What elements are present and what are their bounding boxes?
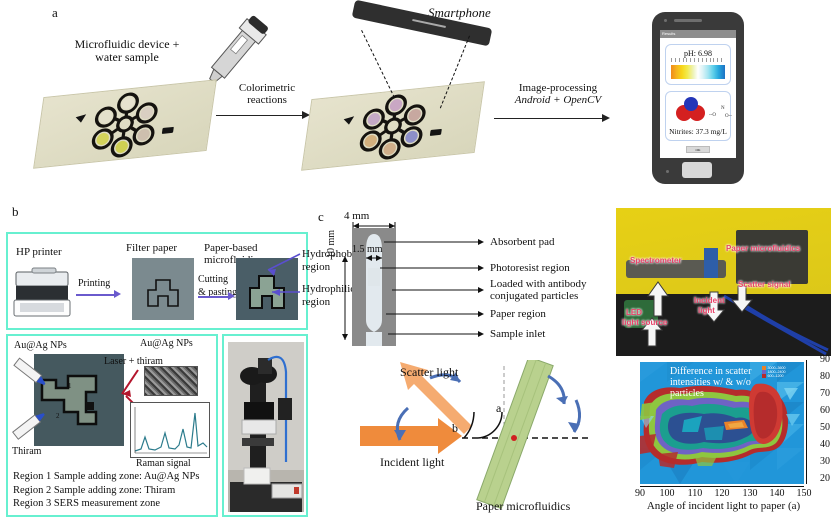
scatter-geometry-diagram: a b Scatter light Incident light Paper m… xyxy=(352,360,602,520)
raman-signal-label: Raman signal xyxy=(136,458,191,469)
dim-width-label: 4 mm xyxy=(344,210,369,222)
y-tick: 90 xyxy=(820,354,830,365)
paper-microfluidics-label: Paper microfluidics xyxy=(476,500,570,513)
phone-sensor-dot xyxy=(666,170,669,173)
colorimetric-arrow-label: Colorimetric reactions xyxy=(214,82,320,107)
chart-legend: 3000–3600 2400–3000 1800–2400 1200–1800 … xyxy=(762,366,804,378)
cutting-arrow-head xyxy=(228,292,235,300)
panel-b-sers-box: Au@Ag NPs Au@Ag NPs 1 2 Thiram Laser + t… xyxy=(6,334,218,517)
heatmap-plot-area: Difference in scatter intensities w/ & w… xyxy=(640,362,804,484)
printing-step-label: Printing xyxy=(78,278,110,289)
pipette-icon-top xyxy=(10,356,50,392)
y-tick: 40 xyxy=(820,439,830,450)
dim-height-label: 10 mm xyxy=(326,230,337,258)
flower-channel-pattern-2 xyxy=(308,90,478,162)
callout-photoresist-region: Photoresist region xyxy=(490,262,570,274)
fov-dash-left xyxy=(361,30,395,98)
chart-x-axis-label: Angle of incident light to paper (a) xyxy=(616,500,831,512)
printer-icon xyxy=(12,262,74,324)
setup-label-light: light xyxy=(698,306,715,315)
incident-light-label: Incident light xyxy=(380,456,444,469)
panel-b-microscope-box xyxy=(222,334,308,517)
x-tick: 100 xyxy=(660,488,675,499)
raman-spectrum-inset xyxy=(130,402,210,458)
hydrophobic-arrow-icon xyxy=(250,248,308,308)
legend-swatch xyxy=(762,374,766,378)
x-tick: 110 xyxy=(688,488,703,499)
panel-b-letter: b xyxy=(12,205,19,220)
ok-button[interactable]: OK xyxy=(686,146,710,153)
microscope-setup-photo xyxy=(228,342,304,512)
arrow-2-head xyxy=(602,114,610,122)
panel-a: Microfluidic device + water sample xyxy=(0,0,834,200)
setup-label-spectrometer: Spectrometer xyxy=(630,256,682,265)
filter-paper-photo xyxy=(132,258,194,320)
svg-text:1: 1 xyxy=(68,382,72,390)
x-tick: 90 xyxy=(635,488,645,499)
x-tick: 120 xyxy=(715,488,730,499)
setup-label-paper-microfluidics: Paper microfluidics xyxy=(726,244,800,253)
microscope-illustration xyxy=(228,342,304,512)
svg-text:b: b xyxy=(452,421,458,435)
chart-title: Difference in scatter intensities w/ & w… xyxy=(670,366,766,399)
flower-channel-pattern-1 xyxy=(40,88,210,160)
caption-region-2: Region 2 Sample adding zone: Thiram xyxy=(13,484,199,498)
nitrite-result-card: --O N O-- Nitrites: 37.3 mg/L xyxy=(665,91,731,141)
setup-label-led-source: light source xyxy=(622,318,667,327)
x-axis-line xyxy=(640,486,804,487)
callout-sample-inlet: Sample inlet xyxy=(490,328,545,340)
arrow-2-line xyxy=(494,118,604,119)
y-tick: 20 xyxy=(820,473,830,484)
sers-region-captions: Region 1 Sample adding zone: Au@Ag NPs R… xyxy=(13,470,199,511)
dim-height-arrow xyxy=(340,252,350,344)
y-tick: 50 xyxy=(820,422,830,433)
cutting-arrow-line xyxy=(198,296,230,298)
smartphone-speaker-strip xyxy=(412,19,446,28)
y-tick: 30 xyxy=(820,456,830,467)
svg-text:N: N xyxy=(721,106,725,111)
legend-label: 600–1200 xyxy=(768,374,784,378)
phone-front-camera xyxy=(664,19,667,22)
setup-label-incident: Incident xyxy=(694,296,725,305)
y-axis-line xyxy=(806,360,807,484)
svg-text:2: 2 xyxy=(56,412,60,420)
thiram-label: Thiram xyxy=(12,446,41,457)
ph-result-card: pH: 6.98 xyxy=(665,44,731,85)
image-processing-arrow-label: Image-processing Android + OpenCV xyxy=(492,82,624,107)
legend-item: 600–1200 xyxy=(762,374,804,378)
filter-paper-label: Filter paper xyxy=(126,242,177,254)
printer-label: HP printer xyxy=(16,246,62,258)
callout-paper-region: Paper region xyxy=(490,308,546,320)
svg-text:--O: --O xyxy=(709,113,716,118)
phone-earpiece xyxy=(674,19,702,22)
smartphone-result-screen[interactable]: Results pH: 6.98 --O N O-- xyxy=(652,12,744,184)
scatter-intensity-heatmap-chart: Difference in scatter intensities w/ & w… xyxy=(616,360,831,520)
y-tick: 60 xyxy=(820,405,830,416)
y-tick: 70 xyxy=(820,388,830,399)
printing-arrow-line xyxy=(76,294,116,296)
pipette-icon-bottom xyxy=(10,406,50,444)
au-ag-np-label-right: Au@Ag NPs xyxy=(140,338,193,349)
panel-c-letter: c xyxy=(318,210,324,225)
phone-home-button[interactable] xyxy=(682,162,712,178)
caption-region-3: Region 3 SERS measurement zone xyxy=(13,497,199,511)
callout-absorbent-pad: Absorbent pad xyxy=(490,236,554,248)
ph-color-scale xyxy=(671,65,725,79)
y-tick: 80 xyxy=(820,371,830,382)
printed-pattern-outline xyxy=(132,258,194,320)
callout-antibody-particles: Loaded with antibody conjugated particle… xyxy=(490,278,587,303)
chart-x-axis: 90 100 110 120 130 140 150 xyxy=(640,486,804,500)
ph-scale-ticks xyxy=(671,58,725,62)
setup-label-scatter-signal: Scatter signal xyxy=(738,280,790,289)
au-ag-np-label-left: Au@Ag NPs xyxy=(14,340,67,351)
svg-text:O--: O-- xyxy=(725,114,732,119)
phone-screen[interactable]: Results pH: 6.98 --O N O-- xyxy=(660,30,736,158)
x-tick: 150 xyxy=(797,488,812,499)
scatter-light-label: Scatter light xyxy=(400,366,458,379)
raman-spectrum-plot xyxy=(131,403,209,457)
setup-label-led: LED xyxy=(626,308,642,317)
scatter-geometry-svg: a b xyxy=(352,360,602,520)
caption-region-1: Region 1 Sample adding zone: Au@Ag NPs xyxy=(13,470,199,484)
arrow-1-line xyxy=(216,115,304,116)
chart-y-axis: 90 80 70 60 50 40 30 20 xyxy=(806,360,830,486)
nitrite-molecule-icon: --O N O-- xyxy=(669,96,735,124)
phone-titlebar: Results xyxy=(660,30,736,38)
x-tick: 130 xyxy=(743,488,758,499)
white-callout-arrows xyxy=(640,264,820,354)
x-tick: 140 xyxy=(770,488,785,499)
ph-value: pH: 6.98 xyxy=(669,49,727,58)
svg-text:a: a xyxy=(496,401,502,415)
nitrite-value: Nitrites: 37.3 mg/L xyxy=(669,127,727,136)
printing-arrow-head xyxy=(114,290,121,298)
optical-setup-photo: Spectrometer Paper microfluidics Scatter… xyxy=(616,208,831,356)
callout-leader-lines xyxy=(374,234,488,346)
sem-image-inset xyxy=(144,366,198,396)
